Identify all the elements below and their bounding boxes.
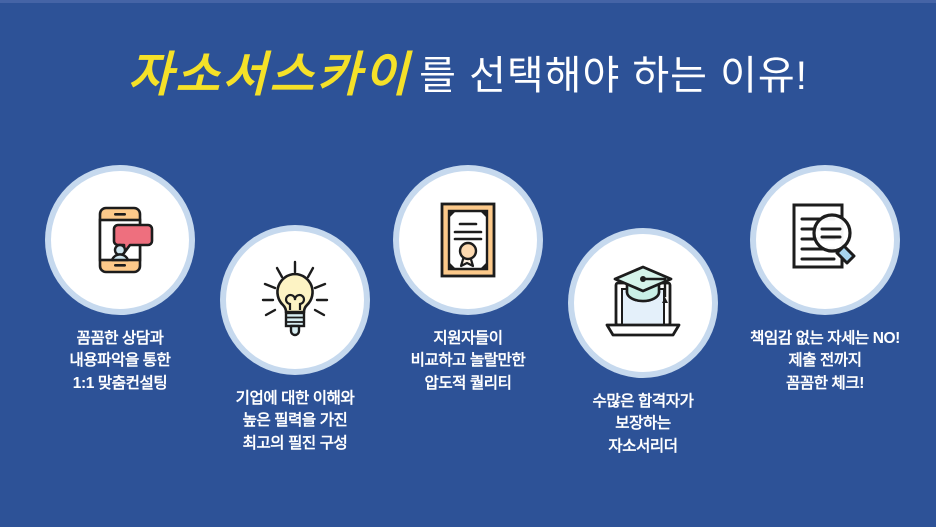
- top-accent-strip: [0, 0, 936, 3]
- circle-body: [756, 171, 894, 309]
- caption-line: 책임감 없는 자세는 NO!: [715, 328, 935, 350]
- caption-line: 꼼꼼한 체크!: [715, 373, 935, 395]
- document-magnifier-icon: [782, 197, 868, 283]
- feature-caption: 수많은 합격자가 보장하는 자소서리더: [538, 391, 748, 458]
- feature-circle: [393, 165, 543, 315]
- brand-name: 자소서스카이: [128, 49, 411, 102]
- smartphone-chat-icon: [78, 198, 162, 282]
- promo-poster: 자소서스카이를 선택해야 하는 이유! 꼼꼼한 상담과 내용파악을 통한 1:1: [0, 0, 936, 527]
- feature-caption: 기업에 대한 이해와 높은 필력을 가진 최고의 필진 구성: [190, 388, 400, 455]
- laptop-graduation-cap-icon: [599, 259, 687, 347]
- page-title: 자소서스카이를 선택해야 하는 이유!: [0, 52, 936, 100]
- headline-rest: 를 선택해야 하는 이유!: [419, 54, 808, 98]
- feature-item-check: 책임감 없는 자세는 NO! 제출 전까지 꼼꼼한 체크!: [715, 165, 935, 395]
- feature-circle: [45, 165, 195, 315]
- circle-body: [574, 234, 712, 372]
- feature-caption: 책임감 없는 자세는 NO! 제출 전까지 꼼꼼한 체크!: [715, 328, 935, 395]
- circle-body: [226, 231, 364, 369]
- caption-line: 높은 필력을 가진: [190, 410, 400, 432]
- caption-line: 제출 전까지: [715, 350, 935, 372]
- caption-line: 최고의 필진 구성: [190, 433, 400, 455]
- feature-circle: [220, 225, 370, 375]
- circle-body: [399, 171, 537, 309]
- lightbulb-icon: [253, 258, 337, 342]
- caption-line: 자소서리더: [538, 436, 748, 458]
- caption-line: 보장하는: [538, 413, 748, 435]
- circle-body: [51, 171, 189, 309]
- feature-circle: [568, 228, 718, 378]
- certificate-icon: [426, 198, 510, 282]
- feature-circle: [750, 165, 900, 315]
